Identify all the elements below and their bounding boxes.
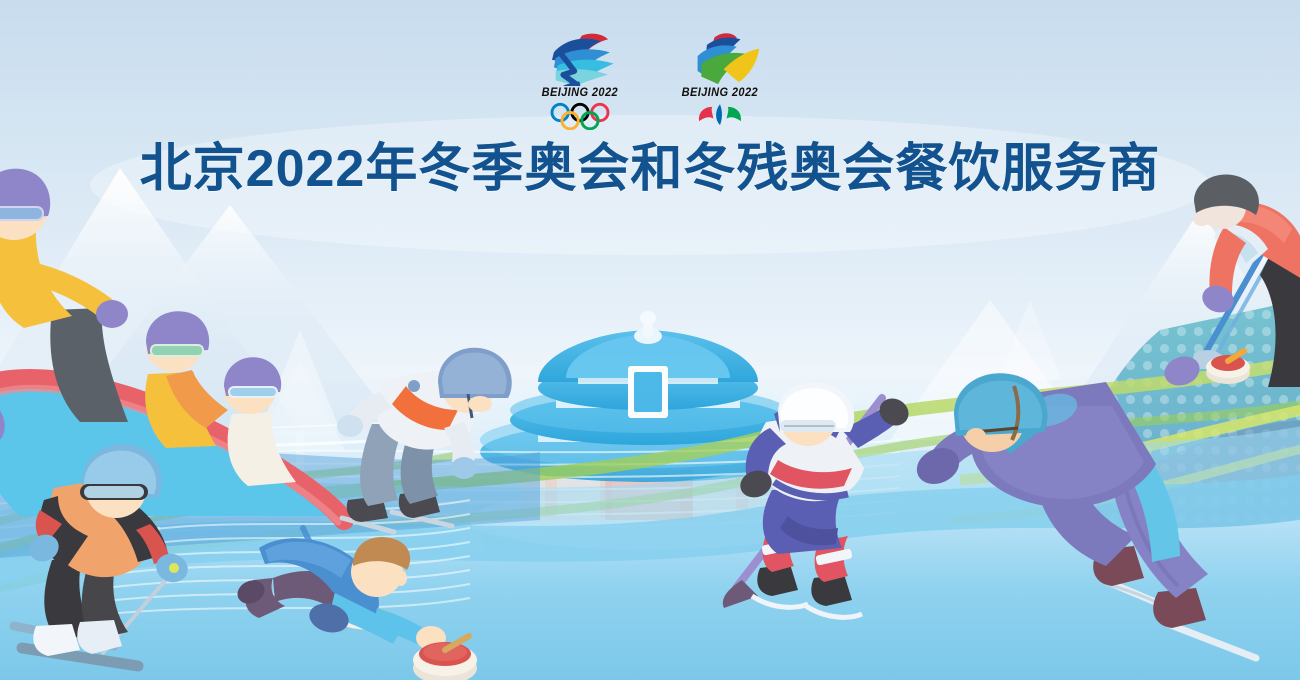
olympic-emblem: BEIJING 2022 — [533, 30, 627, 130]
paralympic-emblem: BEIJING 2022 — [673, 30, 767, 129]
olympic-rings-icon — [544, 102, 616, 130]
winter-dream-emblem-icon — [533, 30, 627, 86]
emblem-row: BEIJING 2022 BEIJING 2022 — [0, 30, 1300, 130]
page-title: 北京2022年冬季奥会和冬残奥会餐饮服务商 — [0, 140, 1300, 200]
beijing-2022-banner: BEIJING 2022 BEIJING 2022 — [0, 0, 1300, 680]
ice-hockey-player — [722, 382, 922, 622]
curler-delivery — [225, 520, 485, 680]
alpine-skier — [18, 440, 248, 680]
speed-skater — [930, 370, 1300, 680]
curler-sweeper — [1160, 175, 1300, 390]
paralympic-wordmark: BEIJING 2022 — [682, 87, 758, 99]
agitos-icon — [694, 103, 746, 129]
short-track-skater — [340, 340, 540, 550]
olympic-wordmark: BEIJING 2022 — [542, 87, 618, 99]
flying-emblem-icon — [673, 30, 767, 86]
